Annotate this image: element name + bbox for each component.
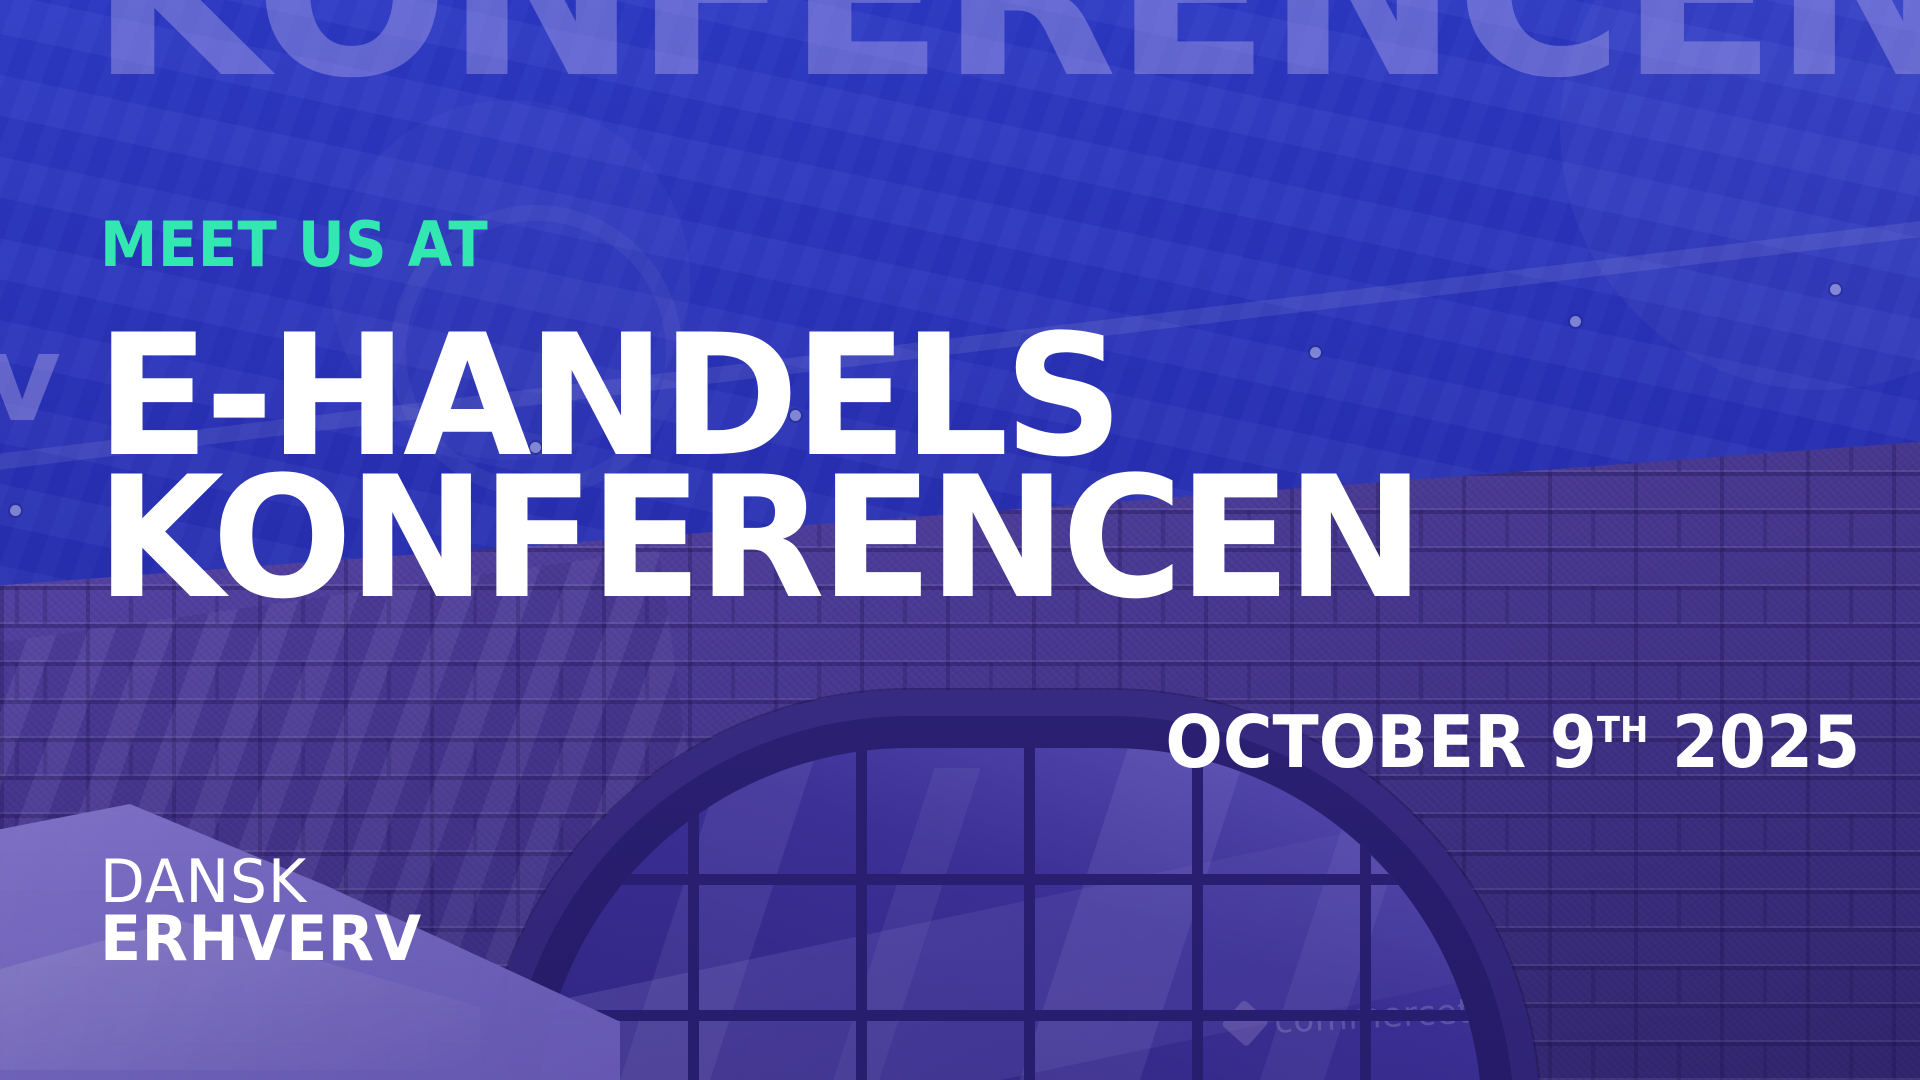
event-date-year: 2025: [1672, 700, 1860, 784]
poster-content: MEET US AT E-HANDELS KONFERENCEN OCTOBER…: [0, 0, 1920, 1080]
logo-word-erhverv: ERHVERV: [100, 910, 422, 967]
headline-line-2: KONFERENCEN: [96, 468, 1420, 609]
event-date-ordinal: TH: [1597, 710, 1648, 751]
conference-promo-poster: commercetools: [0, 0, 1920, 1080]
event-date-monthday: OCTOBER 9: [1165, 700, 1597, 784]
dansk-erhverv-logo: DANSK ERHVERV: [100, 855, 432, 967]
page-title: E-HANDELS KONFERENCEN: [96, 326, 1440, 608]
event-date: OCTOBER 9TH 2025: [1165, 700, 1860, 784]
eyebrow-text: MEET US AT: [100, 214, 488, 276]
